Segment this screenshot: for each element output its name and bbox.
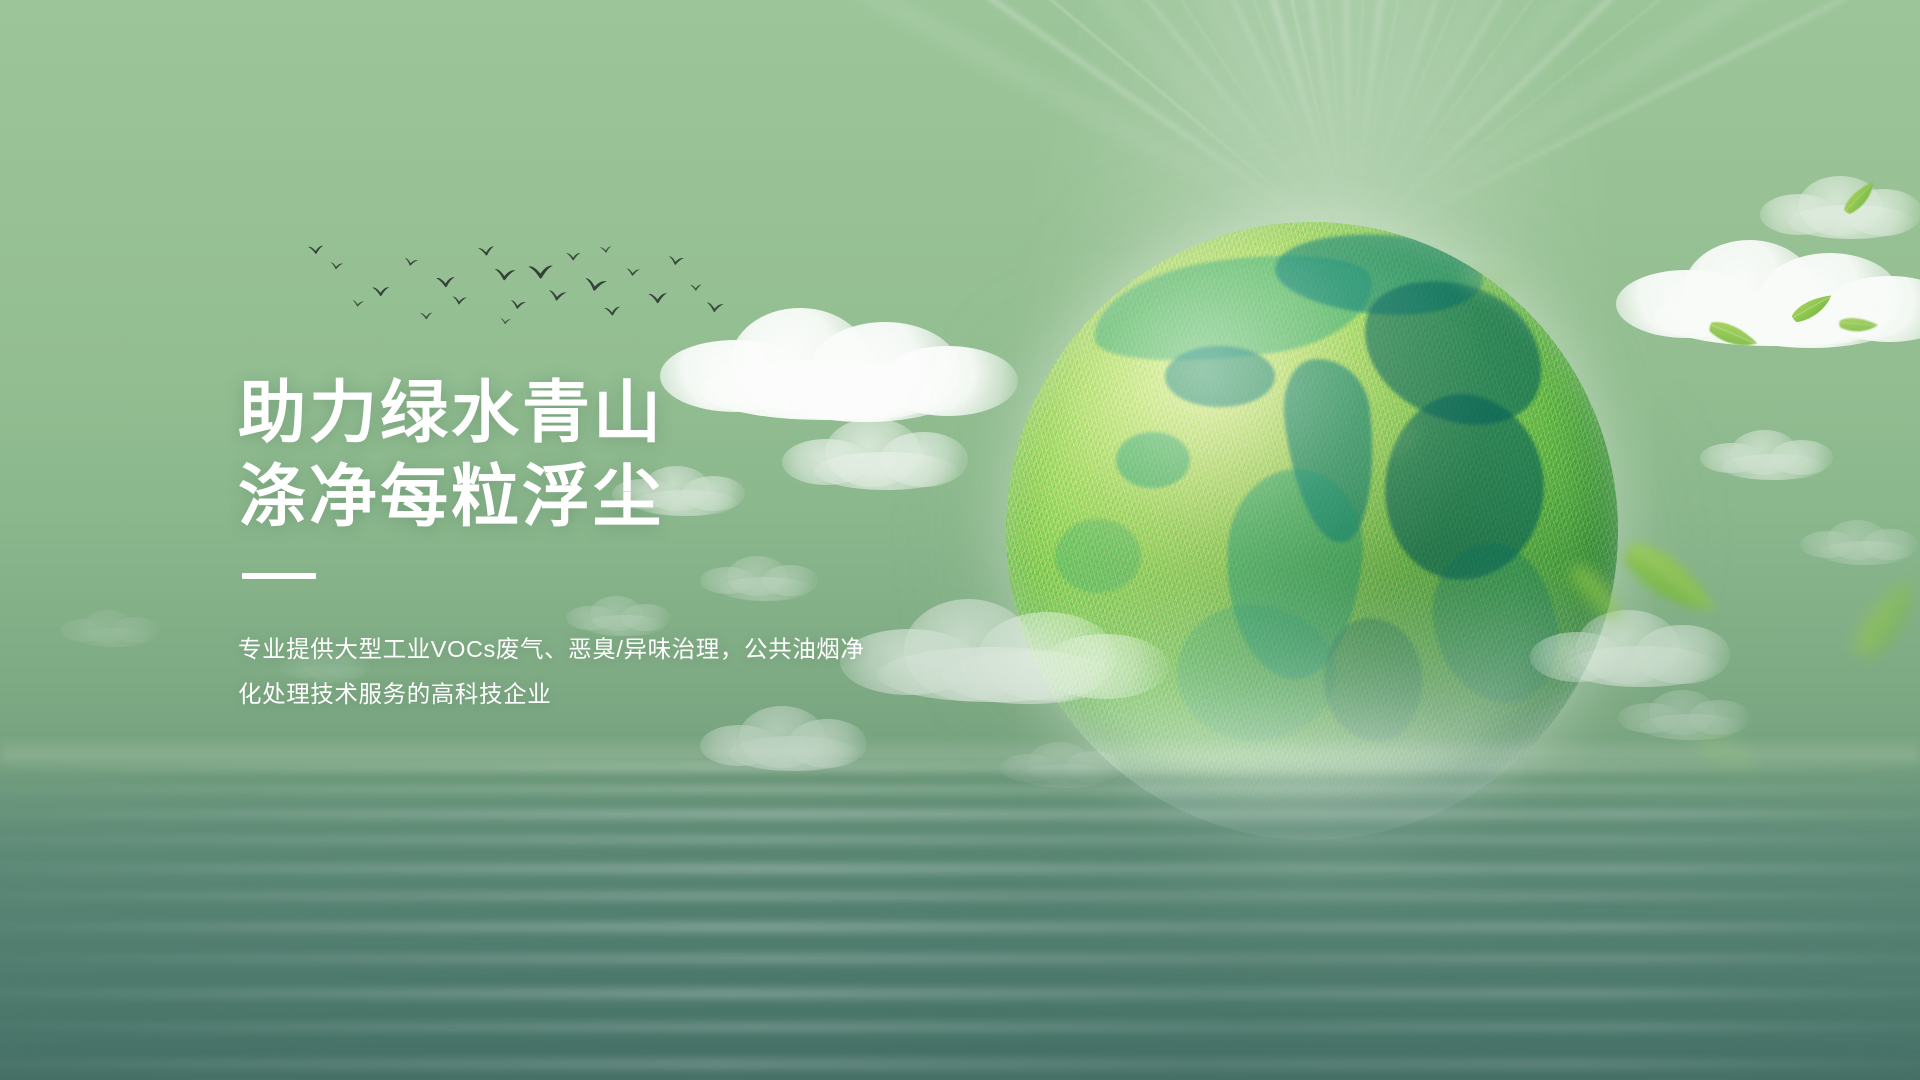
sun-ray bbox=[1348, 0, 1838, 251]
sun-ray bbox=[1349, 0, 1920, 251]
bird-icon bbox=[352, 299, 365, 307]
sun-ray bbox=[576, 0, 1351, 251]
bird-icon bbox=[583, 277, 608, 294]
subtitle-line-1: 专业提供大型工业VOCs废气、恶臭/异味治理，公共油烟净 bbox=[238, 627, 898, 672]
sun-ray bbox=[1329, 0, 1351, 250]
water-ripple bbox=[0, 988, 1920, 999]
bird-icon bbox=[706, 301, 725, 313]
sun-ray bbox=[1349, 0, 1892, 251]
bird-icon bbox=[510, 299, 527, 311]
water-surface bbox=[0, 760, 1920, 1080]
sun-ray bbox=[829, 0, 1352, 251]
bird-icon bbox=[372, 286, 391, 298]
bird-icon bbox=[500, 318, 511, 325]
sun-ray bbox=[1348, 0, 1631, 251]
water-ripple bbox=[0, 864, 1920, 873]
water-ripple bbox=[0, 764, 1920, 771]
water-ripple bbox=[0, 848, 1920, 862]
bird-icon bbox=[548, 289, 568, 302]
sun-ray bbox=[977, 0, 1351, 250]
bird-icon bbox=[330, 262, 344, 271]
bird-icon bbox=[600, 245, 613, 254]
water-ripple bbox=[0, 810, 1920, 818]
sun-ray bbox=[1111, 0, 1351, 250]
sun-ray bbox=[612, 0, 1352, 252]
bird-icon bbox=[452, 296, 467, 306]
bird-icon bbox=[603, 305, 621, 317]
sun-ray bbox=[483, 0, 1352, 253]
sun-ray bbox=[774, 0, 1351, 250]
water-ripple bbox=[0, 954, 1920, 963]
bird-icon bbox=[566, 252, 581, 262]
hero-copy: 助力绿水青山 涤净每粒浮尘 专业提供大型工业VOCs废气、恶臭/异味治理，公共油… bbox=[238, 372, 958, 717]
water-ripple bbox=[0, 878, 1920, 890]
sun-ray bbox=[1349, 0, 1696, 250]
bird-icon bbox=[690, 284, 702, 292]
bird-icon bbox=[648, 291, 669, 305]
globe-reflection bbox=[1036, 846, 1588, 1056]
sun-ray bbox=[1348, 0, 1920, 252]
bird-icon bbox=[477, 245, 495, 258]
sun-ray bbox=[695, 0, 1351, 251]
bird-icon bbox=[527, 263, 554, 281]
water-ripple bbox=[0, 786, 1920, 792]
sun-ray bbox=[1348, 0, 1920, 253]
earth-globe-icon bbox=[1006, 222, 1618, 840]
sun-ray bbox=[1349, 0, 1760, 250]
hero-subtitle: 专业提供大型工业VOCs废气、恶臭/异味治理，公共油烟净 化处理技术服务的高科技… bbox=[238, 627, 898, 717]
bird-icon bbox=[494, 268, 516, 282]
leaf-icon bbox=[1704, 313, 1759, 360]
water-ripple bbox=[0, 824, 1920, 835]
water-ripple bbox=[0, 922, 1920, 932]
bird-icon bbox=[435, 275, 456, 289]
hero-banner: 助力绿水青山 涤净每粒浮尘 专业提供大型工业VOCs废气、恶臭/异味治理，公共油… bbox=[0, 0, 1920, 1080]
leaf-icon bbox=[1688, 722, 1761, 788]
sun-ray bbox=[514, 0, 1351, 251]
water-ripple bbox=[0, 798, 1920, 810]
water-ripple bbox=[0, 1022, 1920, 1032]
sun-ray bbox=[1349, 0, 1483, 250]
leaf-icon bbox=[1841, 573, 1920, 667]
sun-ray bbox=[1349, 0, 1920, 250]
bird-icon bbox=[420, 311, 434, 320]
water-ripple bbox=[0, 776, 1920, 786]
sun-ray bbox=[1180, 0, 1352, 250]
sun-ray bbox=[1349, 0, 1920, 251]
sun-ray bbox=[1033, 0, 1352, 251]
bird-icon bbox=[668, 255, 685, 267]
headline-line-2: 涤净每粒浮尘 bbox=[238, 456, 958, 540]
water-ripple bbox=[0, 892, 1920, 900]
water-ripple bbox=[0, 836, 1920, 843]
sun-ray bbox=[905, 0, 1351, 250]
sun-ray bbox=[1349, 0, 1406, 250]
water-ripple bbox=[0, 1058, 1920, 1070]
leaf-icon bbox=[1839, 180, 1884, 218]
bird-icon bbox=[403, 257, 418, 268]
title-divider bbox=[242, 573, 316, 579]
water-ripple bbox=[0, 970, 1920, 986]
water-ripple bbox=[0, 906, 1920, 921]
leaf-icon bbox=[1788, 293, 1838, 326]
sun-ray bbox=[1349, 0, 1553, 250]
water-ripple bbox=[0, 1040, 1920, 1056]
leaf-icon bbox=[1836, 313, 1879, 340]
water-ripple bbox=[0, 1006, 1920, 1020]
headline-line-1: 助力绿水青山 bbox=[238, 372, 958, 456]
subtitle-line-2: 化处理技术服务的高科技企业 bbox=[238, 672, 898, 717]
water-ripple bbox=[0, 938, 1920, 951]
sun-ray bbox=[1350, 0, 1920, 251]
sun-ray bbox=[1256, 0, 1350, 250]
bird-icon bbox=[308, 244, 325, 256]
water-horizon bbox=[0, 738, 1920, 764]
bird-icon bbox=[626, 268, 640, 277]
leaf-icon bbox=[1613, 527, 1721, 640]
